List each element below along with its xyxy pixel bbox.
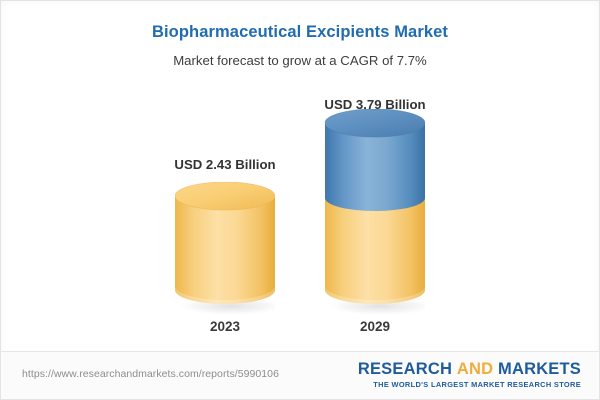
bar-category-label-2023: 2023 <box>155 319 295 334</box>
logo-word-and-text: AND <box>457 360 493 378</box>
report-url-link[interactable]: https://www.researchandmarkets.com/repor… <box>22 368 279 380</box>
bar-cylinder-2029[interactable] <box>325 109 425 318</box>
bar-value-label: USD 2.43 Billion <box>125 157 325 172</box>
logo-word-markets: MARKETS <box>498 360 581 378</box>
bar-cylinder-2023[interactable] <box>175 182 275 318</box>
cylinder-shape <box>325 109 425 318</box>
cylinder-shape <box>175 182 275 318</box>
footer: https://www.researchandmarkets.com/repor… <box>1 351 599 399</box>
logo-wordmark: RESEARCH AND MARKETS <box>358 361 581 378</box>
plot-area: USD 2.43 Billion <box>1 1 600 353</box>
bar-category-label-2029: 2029 <box>305 319 445 334</box>
logo-word-research: RESEARCH <box>358 360 452 378</box>
logo-tagline: THE WORLD'S LARGEST MARKET RESEARCH STOR… <box>358 380 581 389</box>
research-and-markets-logo[interactable]: RESEARCH AND MARKETS THE WORLD'S LARGEST… <box>358 361 581 389</box>
chart-canvas: Biopharmaceutical Excipients Market Mark… <box>0 0 600 400</box>
logo-word-and: AND <box>452 360 498 378</box>
